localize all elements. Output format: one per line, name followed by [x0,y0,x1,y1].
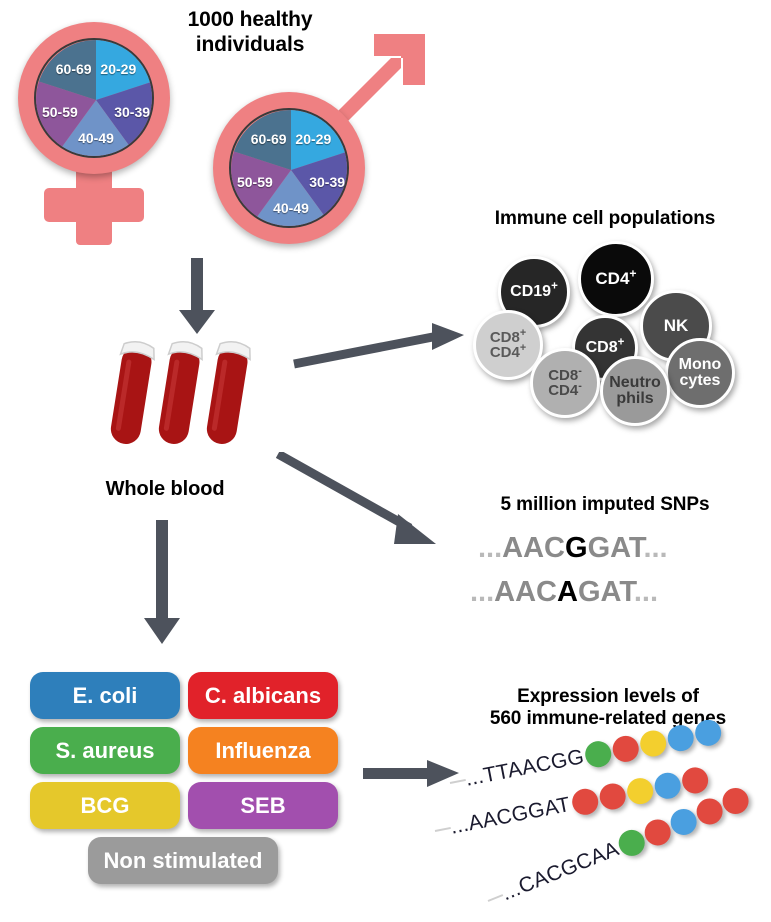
strand-bead [597,781,627,811]
strand-lead-line [488,894,504,902]
strand-bead [693,717,723,747]
strand-bead [680,765,710,795]
stimulus-label: C. albicans [205,683,321,709]
snp-sequence-block: ...AACGGAT......AACAGAT... [470,532,750,622]
stimulus-e-coli[interactable]: E. coli [30,672,180,719]
immune-cell-cd4[interactable]: CD4+ [578,241,654,317]
immune-cell-neutrophils[interactable]: Neutrophils [600,356,670,426]
strand-bead [652,771,682,801]
stimulus-label: Non stimulated [104,848,263,874]
figure-canvas: 20-2930-3940-4950-5960-69 20-2930-3940-4… [0,0,771,922]
stimulus-label: S. aureus [55,738,154,764]
expression-heading-line1: Expression levels of [448,686,768,708]
stimulus-c-albicans[interactable]: C. albicans [188,672,338,719]
snps-heading: 5 million imputed SNPs [455,494,755,516]
strand-bead [583,739,613,769]
gene-expression-strands: ...TTAACGG...AACGGAT...CACGCAA [440,740,771,920]
whole-blood-label: Whole blood [85,478,245,502]
immune-cell-monocytes[interactable]: Monocytes [665,338,735,408]
strand-sequence-text: ...AACGGAT [448,793,572,840]
immune-cell-cd8-cd4[interactable]: CD8-CD4- [530,348,600,418]
strand-bead [570,787,600,817]
stimulus-label: SEB [240,793,285,819]
immune-cell-cluster: CD19+CD4+NKCD8+CD4+CD8+MonocytesCD8-CD4-… [0,0,771,460]
immune-cell-label: CD8+CD4+ [490,330,526,361]
snp-sequence-row: ...AACGGAT... [478,532,668,565]
stimulus-seb[interactable]: SEB [188,782,338,829]
arrow-down-blood-to-stimuli [140,520,184,646]
strand-bead [638,728,668,758]
strand-sequence-text: ...TTAACGG [463,745,586,792]
immune-cell-label: CD8-CD4- [548,368,582,399]
immune-cell-label: CD19+ [510,284,558,300]
immune-cell-label: Monocytes [679,357,722,390]
stimulus-s-aureus[interactable]: S. aureus [30,727,180,774]
snp-sequence-row: ...AACAGAT... [470,576,658,609]
immune-cell-label: NK [664,317,689,334]
strand-lead-line [435,827,451,832]
immune-cell-label: CD8+ [586,340,625,356]
stimulus-label: BCG [81,793,130,819]
strand-bead [666,723,696,753]
stimulus-label: E. coli [73,683,138,709]
stimulus-bcg[interactable]: BCG [30,782,180,829]
strand-bead [611,734,641,764]
arrow-blood-to-snps [276,452,456,552]
strand-sequence-text: ...CACGCAA [498,837,622,906]
stimulus-influenza[interactable]: Influenza [188,727,338,774]
stimuli-panel: E. coliC. albicansS. aureusInfluenzaBCGS… [30,672,340,892]
immune-cell-label: CD4+ [595,270,636,287]
stimulus-non-stimulated[interactable]: Non stimulated [88,837,278,884]
strand-bead [625,776,655,806]
strand-bead [719,784,753,818]
stimulus-label: Influenza [215,738,310,764]
strand-lead-line [450,779,466,784]
immune-cell-label: Neutrophils [609,375,661,408]
